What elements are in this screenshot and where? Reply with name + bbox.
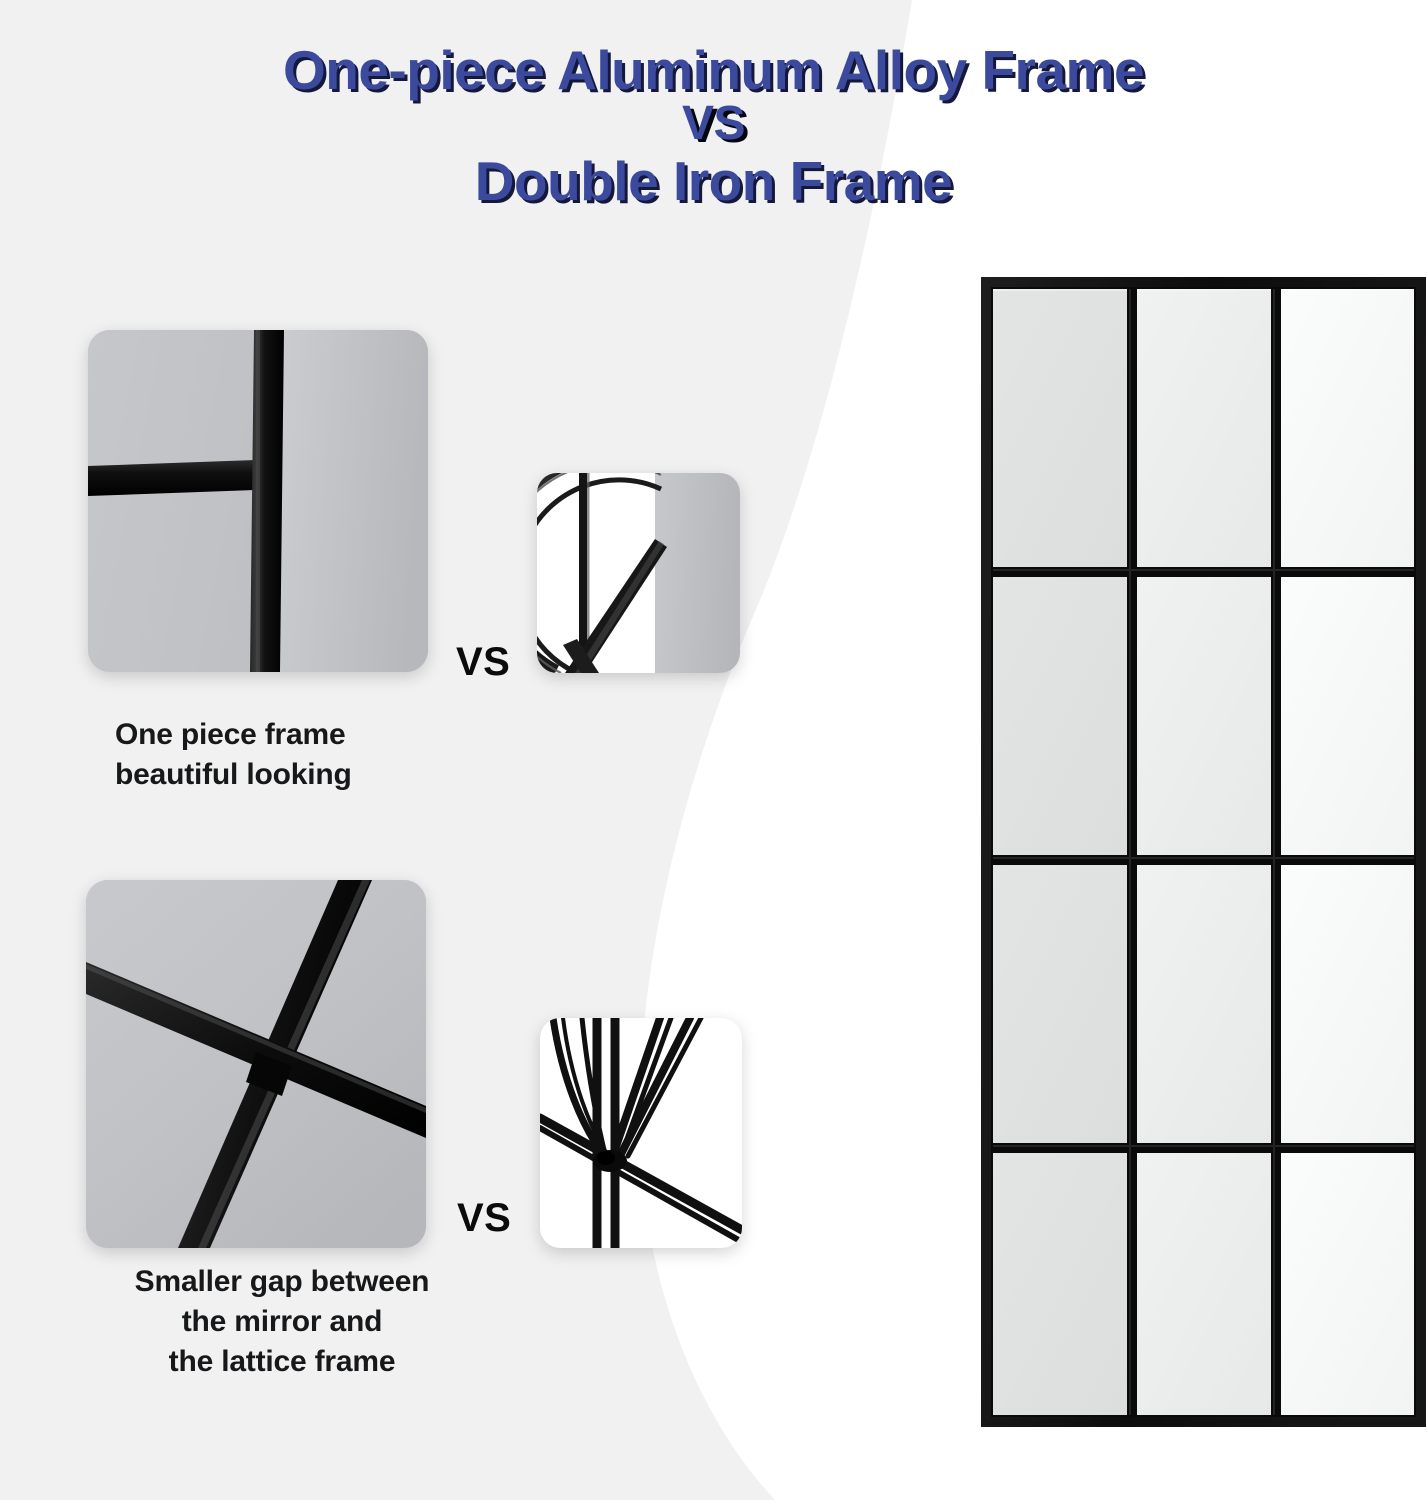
versus-badge-row-2: VS (457, 1196, 511, 1241)
caption-line-2: the mirror and (62, 1302, 502, 1342)
product-mirror (980, 276, 1427, 1428)
versus-badge-row-1: VS (456, 640, 510, 685)
caption-lattice-gap: Smaller gap between the mirror and the l… (62, 1262, 502, 1382)
infographic-canvas: One-piece Aluminum Alloy Frame VS Double… (0, 0, 1427, 1500)
photo-double-iron-arch-closeup (537, 473, 740, 673)
caption-one-piece-frame: One piece frame beautiful looking (115, 715, 535, 795)
photo-lattice-cross-closeup (86, 880, 426, 1248)
caption-line-2: beautiful looking (115, 755, 535, 795)
photo-iron-rods-junction-closeup (540, 1018, 742, 1248)
caption-line-3: the lattice frame (62, 1342, 502, 1382)
caption-line-1: Smaller gap between (62, 1262, 502, 1302)
caption-line-1: One piece frame (115, 715, 535, 755)
photo-one-piece-frame-closeup (88, 330, 428, 672)
